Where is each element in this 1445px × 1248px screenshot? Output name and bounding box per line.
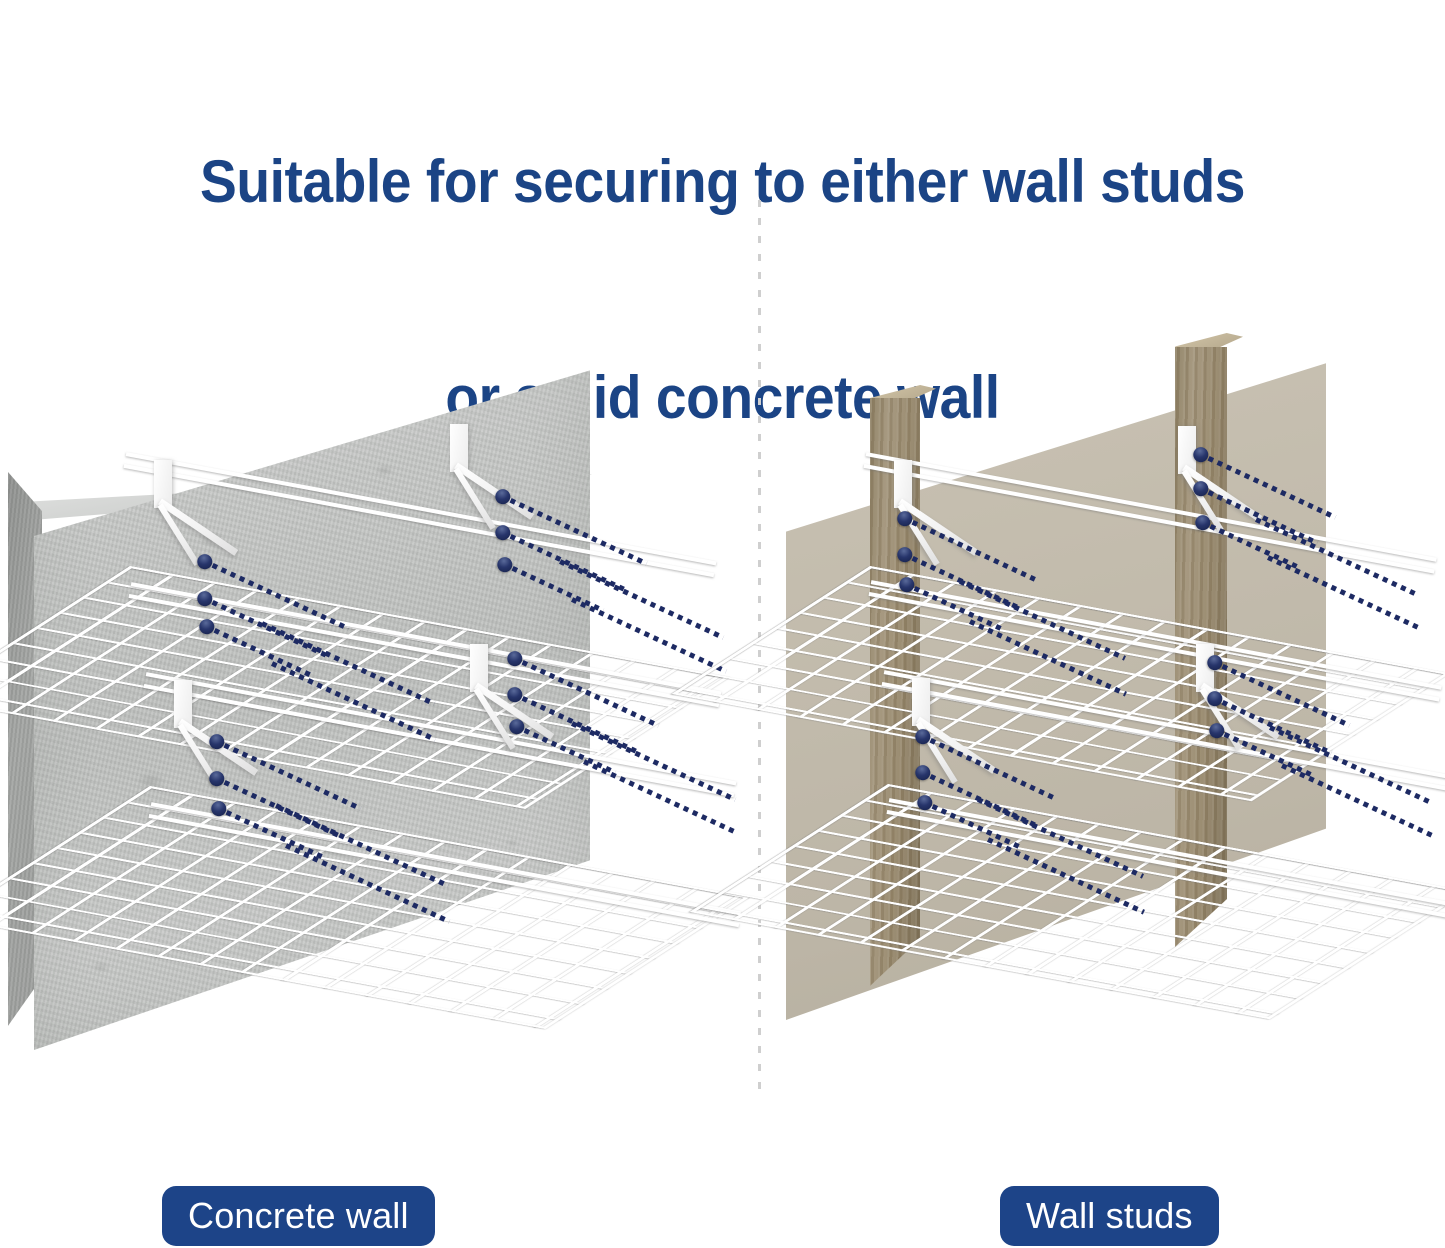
wire-shelf-lower (888, 698, 1445, 928)
infographic-page: Suitable for securing to either wall stu… (0, 0, 1445, 1248)
label-wall-studs-text: Wall studs (1026, 1195, 1193, 1237)
wire-shelf-upper (130, 480, 710, 710)
label-concrete-wall: Concrete wall (162, 1186, 435, 1246)
label-wall-studs: Wall studs (1000, 1186, 1219, 1246)
page-title-line-1: Suitable for securing to either wall stu… (58, 146, 1387, 218)
label-concrete-wall-text: Concrete wall (188, 1195, 409, 1237)
concrete-wall-illustration (0, 330, 740, 1090)
wall-studs-illustration (770, 330, 1445, 1030)
